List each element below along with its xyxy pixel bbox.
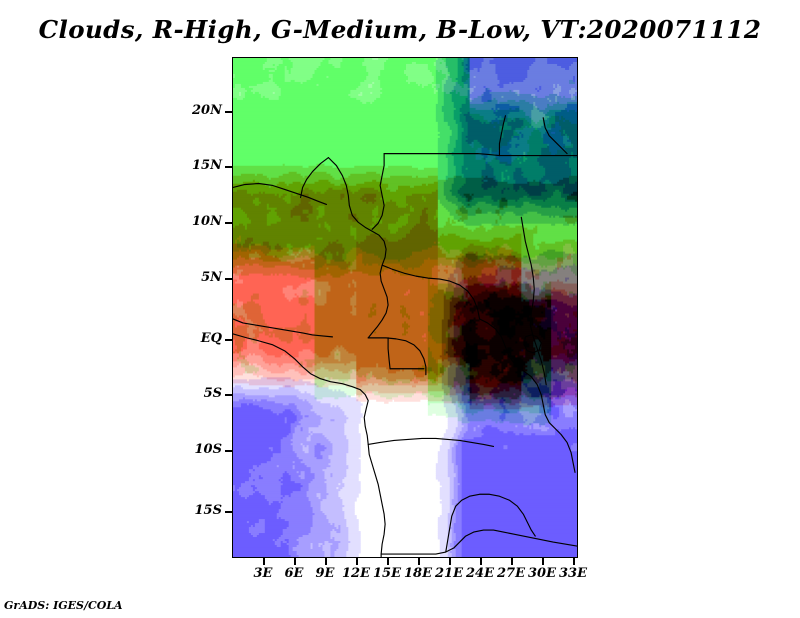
x-tick-10 [573,558,575,565]
y-axis-label-15N: 15N [178,159,222,172]
grads-plot-canvas: Clouds, R-High, G-Medium, B-Low, VT:2020… [0,0,800,618]
y-axis-label-EQ: EQ [178,332,222,345]
x-axis-label-33E: 33E [553,567,593,580]
y-axis-label-5S: 5S [178,387,222,400]
y-axis-label-20N: 20N [178,104,222,117]
x-tick-3 [356,558,358,565]
y-axis-label-5N: 5N [178,271,222,284]
y-axis-label-10S: 10S [178,443,222,456]
y-tick-4 [225,339,232,341]
x-tick-9 [542,558,544,565]
y-axis-label-10N: 10N [178,215,222,228]
y-tick-0 [225,111,232,113]
x-tick-6 [449,558,451,565]
map-plot-area[interactable] [232,57,578,558]
x-tick-0 [263,558,265,565]
y-tick-3 [225,278,232,280]
grads-attribution: GrADS: IGES/COLA [4,600,123,611]
y-tick-5 [225,394,232,396]
page-title: Clouds, R-High, G-Medium, B-Low, VT:2020… [0,18,800,43]
cloud-field-raster [233,58,577,557]
y-tick-6 [225,450,232,452]
y-axis-label-15S: 15S [178,504,222,517]
y-tick-1 [225,166,232,168]
x-tick-4 [387,558,389,565]
x-tick-5 [418,558,420,565]
x-tick-7 [480,558,482,565]
x-tick-8 [511,558,513,565]
x-tick-2 [325,558,327,565]
x-tick-1 [294,558,296,565]
y-tick-2 [225,222,232,224]
y-tick-7 [225,511,232,513]
